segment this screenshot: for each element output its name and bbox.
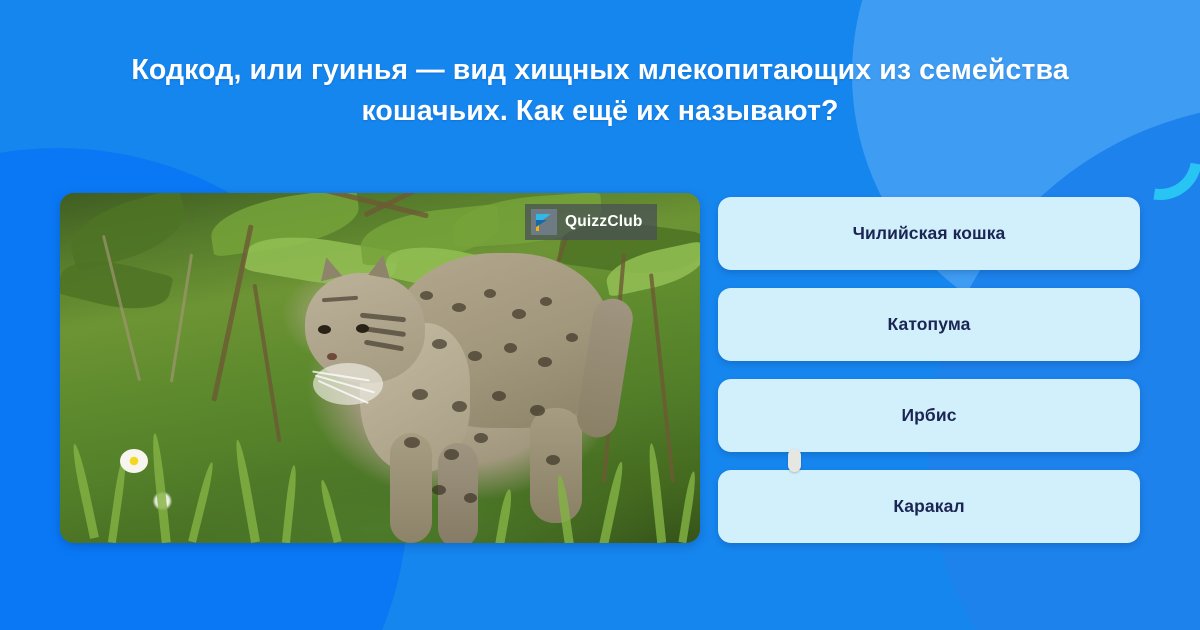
answer-option-4[interactable]: Каракал bbox=[718, 470, 1140, 543]
cat-hind-leg bbox=[530, 408, 582, 523]
branch bbox=[253, 284, 282, 443]
answer-option-2[interactable]: Катопума bbox=[718, 288, 1140, 361]
question-photo: QuizzClub bbox=[60, 193, 700, 543]
quizzclub-flag-icon bbox=[531, 209, 557, 235]
answer-option-label: Чилийская кошка bbox=[853, 223, 1006, 244]
branch bbox=[170, 254, 193, 383]
answer-option-label: Катопума bbox=[888, 314, 971, 335]
answer-option-label: Каракал bbox=[893, 496, 964, 517]
cat-nose bbox=[327, 353, 337, 360]
watermark: QuizzClub bbox=[525, 204, 657, 240]
daisy-flower bbox=[120, 449, 148, 473]
answer-options-list: Чилийская кошка Катопума Ирбис Каракал bbox=[718, 197, 1140, 543]
cat-front-leg bbox=[390, 433, 432, 543]
foliage-leaf bbox=[63, 193, 193, 272]
answer-option-1[interactable]: Чилийская кошка bbox=[718, 197, 1140, 270]
quiz-card-stage: Кодкод, или гуинья — вид хищных млекопит… bbox=[0, 0, 1200, 630]
cat-eye bbox=[318, 325, 331, 334]
answer-option-3[interactable]: Ирбис bbox=[718, 379, 1140, 452]
question-image-card: QuizzClub bbox=[60, 193, 700, 543]
answer-option-label: Ирбис bbox=[901, 405, 956, 426]
question-title: Кодкод, или гуинья — вид хищных млекопит… bbox=[100, 50, 1100, 132]
cursor-handle[interactable] bbox=[788, 449, 801, 472]
cat-ear bbox=[368, 253, 393, 278]
watermark-brand: QuizzClub bbox=[565, 213, 643, 231]
